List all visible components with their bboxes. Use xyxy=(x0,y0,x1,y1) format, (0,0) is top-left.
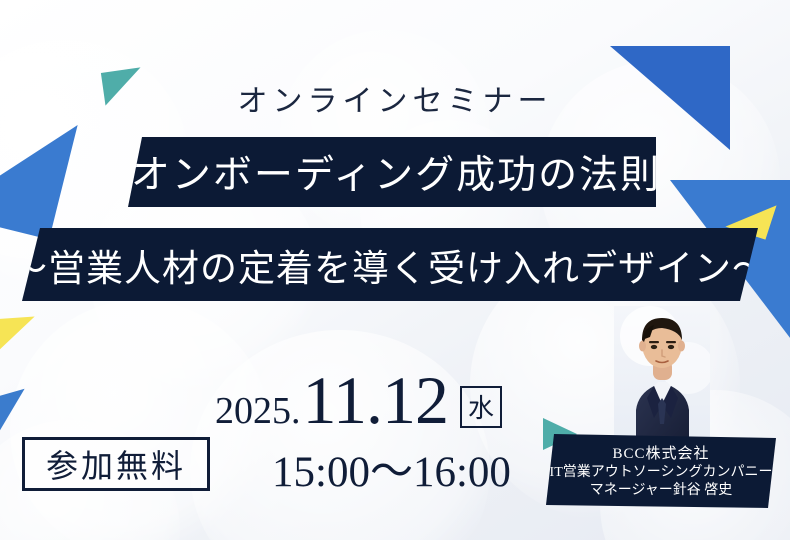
title-banner-sub: 〜営業人材の定着を導く受け入れデザイン〜 xyxy=(22,228,758,301)
title-sub-text: 〜営業人材の定着を導く受け入れデザイン〜 xyxy=(10,238,770,292)
speaker-info-banner: BCC株式会社 IT営業アウトソーシングカンパニー マネージャー針谷 啓史 xyxy=(546,434,776,508)
title-main-text: オンボーディング成功の法則 xyxy=(131,144,661,200)
seminar-eyebrow-label: オンラインセミナー xyxy=(0,76,790,120)
event-date-day: 11.12 xyxy=(303,368,448,433)
event-date-weekday-box: 水 xyxy=(460,386,502,428)
seminar-poster: オンラインセミナー オンボーディング成功の法則 〜営業人材の定着を導く受け入れデ… xyxy=(0,0,790,540)
speaker-division: IT営業アウトソーシングカンパニー xyxy=(550,464,773,482)
title-banner-main: オンボーディング成功の法則 xyxy=(128,137,656,207)
speaker-company: BCC株式会社 xyxy=(612,445,709,464)
yellow-triangle-decoration-left xyxy=(0,317,37,356)
event-date: 2025. 11.12 水 xyxy=(215,368,502,434)
speaker-photo xyxy=(614,306,710,456)
speaker-name: マネージャー針谷 啓史 xyxy=(590,482,733,500)
event-date-year: 2025. xyxy=(215,389,301,433)
free-participation-badge: 参加無料 xyxy=(22,437,210,491)
event-time: 15:00〜16:00 xyxy=(272,437,511,499)
